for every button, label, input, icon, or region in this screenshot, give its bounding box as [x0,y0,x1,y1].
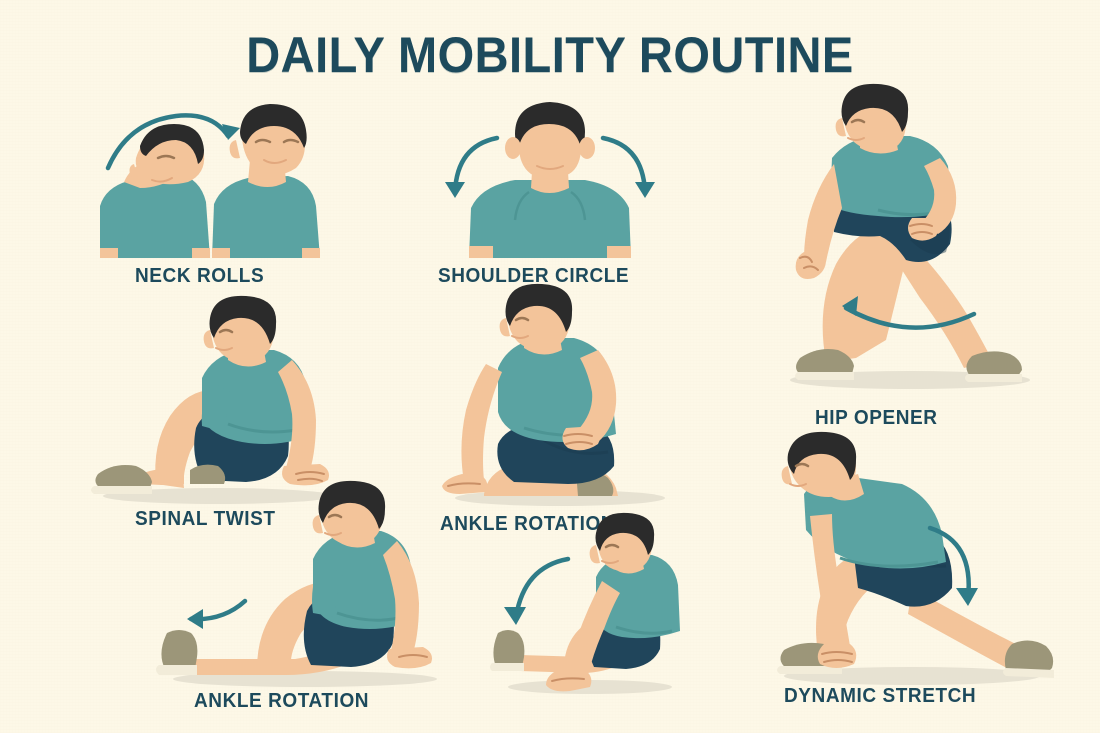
label-dynamic-stretch: DYNAMIC STRETCH [784,685,976,708]
figure-shoulder [469,102,631,258]
illustration-spinal-twist [78,298,338,508]
arrow-seated-ankle [504,559,568,625]
illustration-ankle-rotations [440,288,680,508]
illustration-dynamic-stretch [762,438,1062,688]
shoe-back [1003,640,1054,678]
page-title: DAILY MOBILITY ROUTINE [33,26,1067,84]
illustration-seated-ankle-detail [490,545,680,695]
figure-neck-tilt [100,124,210,258]
arm-to-knee [804,164,842,262]
arm-floor [461,364,502,482]
label-hip-opener: HIP OPENER [815,407,938,430]
illustration-neck-rolls [100,98,340,258]
shoe [490,630,524,671]
shoe-left [91,465,152,494]
shoe [156,630,197,675]
arrow-ankle-rotation [187,601,245,629]
label-neck-rolls: NECK ROLLS [135,265,264,288]
illustration-shoulder-circle [437,100,663,258]
illustration-hip-opener [760,92,1060,392]
shoe-back [965,351,1022,382]
poster-canvas: DAILY MOBILITY ROUTINE [0,0,1100,733]
label-ankle-rotation: ANKLE ROTATION [194,690,369,713]
illustration-ankle-rotation [145,503,445,688]
